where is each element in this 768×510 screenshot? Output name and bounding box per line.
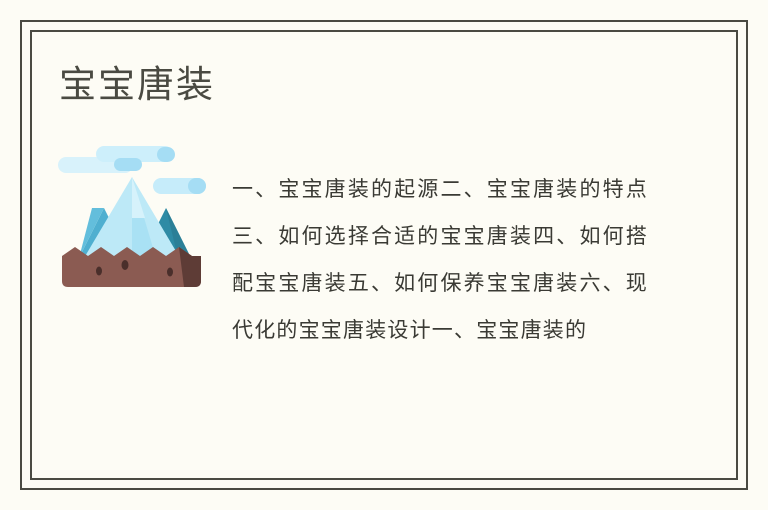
rock-speckle-1 (96, 267, 102, 276)
rock-speckle-3 (167, 268, 173, 277)
article-body-text: 一、宝宝唐装的起源二、宝宝唐装的特点三、如何选择合适的宝宝唐装四、如何搭配宝宝唐… (232, 166, 648, 354)
mountain-illustration (57, 144, 206, 293)
page-title: 宝宝唐装 (59, 62, 215, 108)
rock-speckle-2 (122, 260, 129, 270)
page-root: 宝宝唐装 (0, 0, 768, 510)
